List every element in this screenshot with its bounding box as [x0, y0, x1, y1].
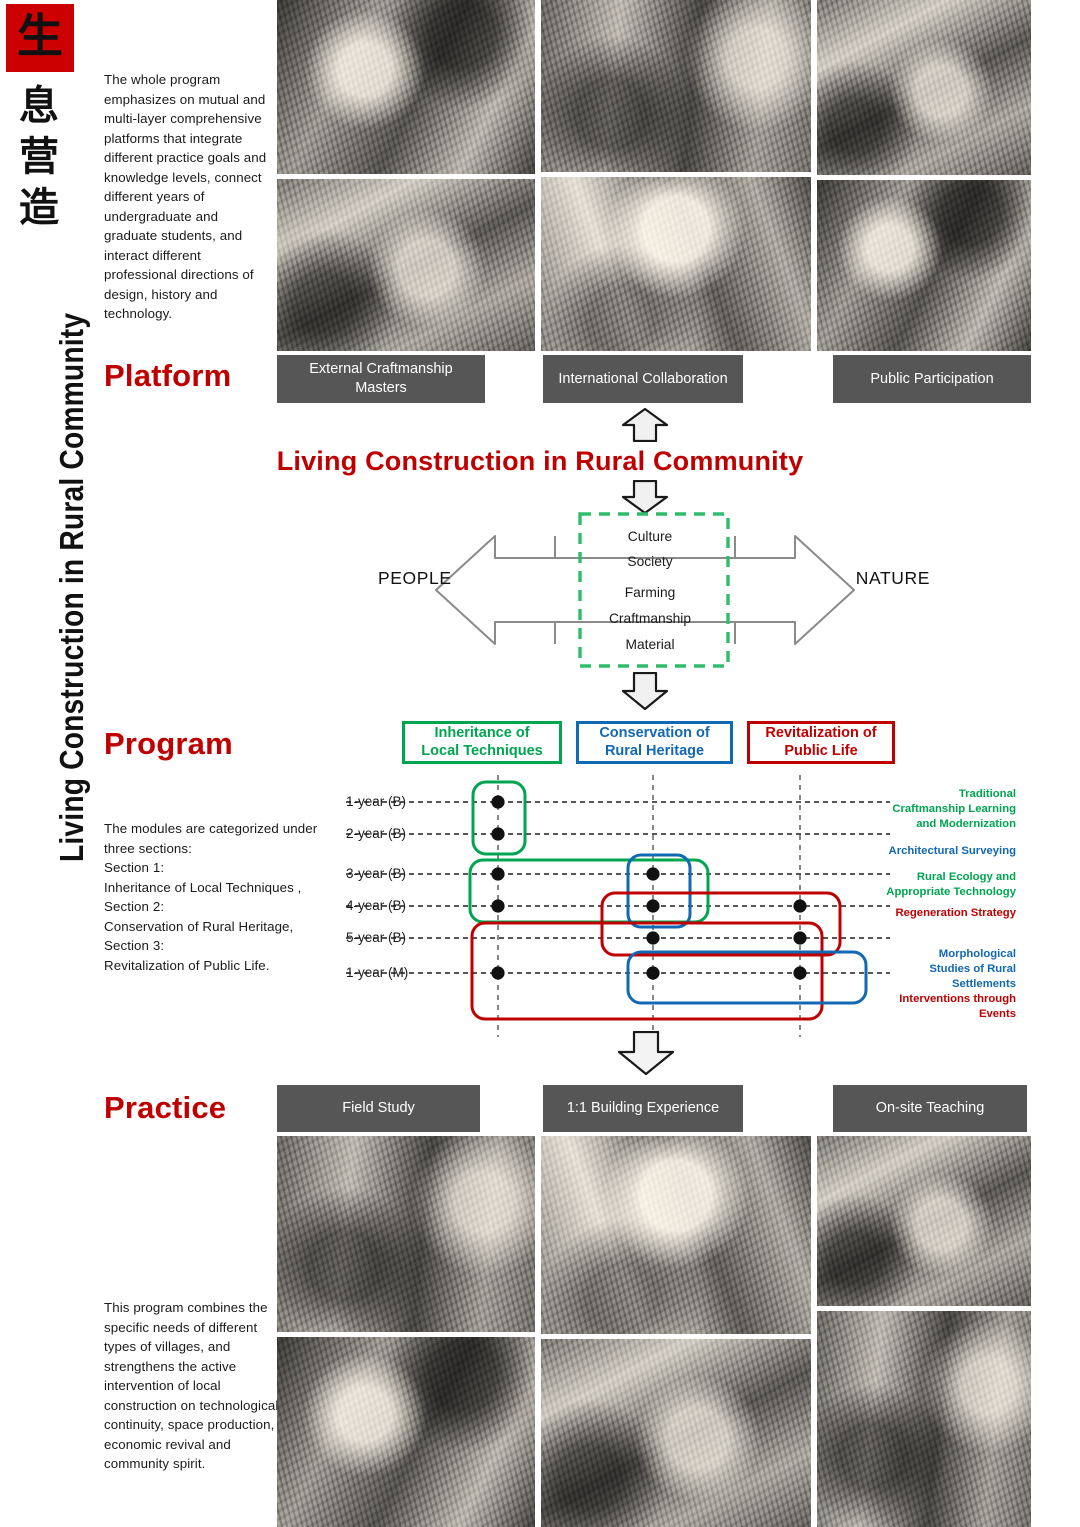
arrow-down-to-practice: [618, 1031, 674, 1075]
practice-photo-column-1: [277, 1136, 535, 1527]
photo-students-masonry: [277, 1337, 535, 1527]
diagram-item-society: Society: [340, 554, 960, 569]
photo-bamboo-canopy-pavilion: [541, 1136, 811, 1334]
matrix-row-label-1-year-b: 1-year (B): [346, 794, 406, 809]
section-heading-platform: Platform: [104, 358, 231, 394]
matrix-row-label-1-year-m: 1-year (M): [346, 965, 408, 980]
matrix-row-label-5-year-b: 5-year (B): [346, 930, 406, 945]
matrix-annotation-interventions-events: Interventions through Events: [816, 992, 1016, 1022]
caption-building-experience: 1:1 Building Experience: [543, 1085, 743, 1132]
photo-pigs-pen: [817, 180, 1031, 351]
photo-bamboo-arch-build: [541, 1339, 811, 1527]
matrix-row-label-4-year-b: 4-year (B): [346, 898, 406, 913]
program-module-matrix: 1-year (B) 2-year (B) 3-year (B) 4-year …: [330, 775, 1070, 1040]
photo-village-street-teaching: [817, 1136, 1031, 1306]
section-heading-practice: Practice: [104, 1090, 226, 1126]
centre-title: Living Construction in Rural Community: [0, 446, 1080, 477]
platform-photo-column-3: [817, 0, 1031, 351]
platform-paragraph: The whole program emphasizes on mutual a…: [104, 70, 274, 324]
practice-photo-column-2: [541, 1136, 811, 1527]
platform-photo-mosaic: [277, 0, 1031, 351]
platform-photo-column-1: [277, 0, 535, 351]
practice-paragraph: This program combines the specific needs…: [104, 1298, 284, 1474]
seal-glyph: 生: [17, 13, 63, 59]
caption-onsite-teaching: On-site Teaching: [833, 1085, 1027, 1132]
photo-student-group-outdoor: [817, 1311, 1031, 1527]
section-heading-program: Program: [104, 726, 233, 762]
program-category-revitalization[interactable]: Revitalization of Public Life: [747, 721, 895, 764]
matrix-annotation-regeneration-strategy: Regeneration Strategy: [816, 906, 1016, 921]
caption-international-collaboration: International Collaboration: [543, 355, 743, 403]
caption-public-participation: Public Participation: [833, 355, 1031, 403]
diagram-item-culture: Culture: [340, 529, 960, 544]
matrix-row-label-3-year-b: 3-year (B): [346, 866, 406, 881]
platform-photo-column-2: [541, 0, 811, 351]
vertical-poster-title-text: Living Construction in Rural Community: [54, 313, 92, 862]
matrix-annotation-architectural-surveying: Architectural Surveying: [816, 844, 1016, 859]
people-nature-diagram: PEOPLE NATURE Culture Society Farming Cr…: [340, 510, 960, 670]
matrix-annotation-traditional-craftmanship: Traditional Craftmanship Learning and Mo…: [816, 787, 1016, 832]
matrix-row-label-2-year-b: 2-year (B): [346, 826, 406, 841]
practice-photo-column-3: [817, 1136, 1031, 1527]
arrow-up-to-platform: [622, 408, 668, 442]
photo-villagers-building: [817, 0, 1031, 175]
arrow-down-to-diagram: [622, 480, 668, 514]
diagram-item-craftmanship: Craftmanship: [340, 611, 960, 626]
diagram-item-farming: Farming: [340, 585, 960, 600]
poster-canvas: 生 息 营 造 Living Construction in Rural Com…: [0, 0, 1080, 1527]
caption-external-craftmanship-masters: External Craftmanship Masters: [277, 355, 485, 403]
caption-field-study: Field Study: [277, 1085, 480, 1132]
matrix-annotation-morphological-studies: Morphological Studies of Rural Settlemen…: [816, 947, 1016, 992]
photo-seminar-table: [541, 0, 811, 172]
program-category-conservation[interactable]: Conservation of Rural Heritage: [576, 721, 733, 764]
program-paragraph: The modules are categorized under three …: [104, 819, 319, 975]
program-category-inheritance[interactable]: Inheritance of Local Techniques: [402, 721, 562, 764]
photo-craftsman-portrait: [277, 0, 535, 174]
practice-photo-mosaic: [277, 1136, 1031, 1527]
diagram-item-material: Material: [340, 637, 960, 652]
arrow-down-to-program: [622, 672, 668, 710]
photo-field-survey-group: [277, 1136, 535, 1332]
photo-bamboo-field-work: [277, 179, 535, 351]
vertical-poster-title: Living Construction in Rural Community: [36, 92, 92, 862]
matrix-annotation-rural-ecology: Rural Ecology and Appropriate Technology: [816, 870, 1016, 900]
red-seal-logo: 生: [6, 4, 74, 72]
photo-exhibition-review: [541, 177, 811, 351]
